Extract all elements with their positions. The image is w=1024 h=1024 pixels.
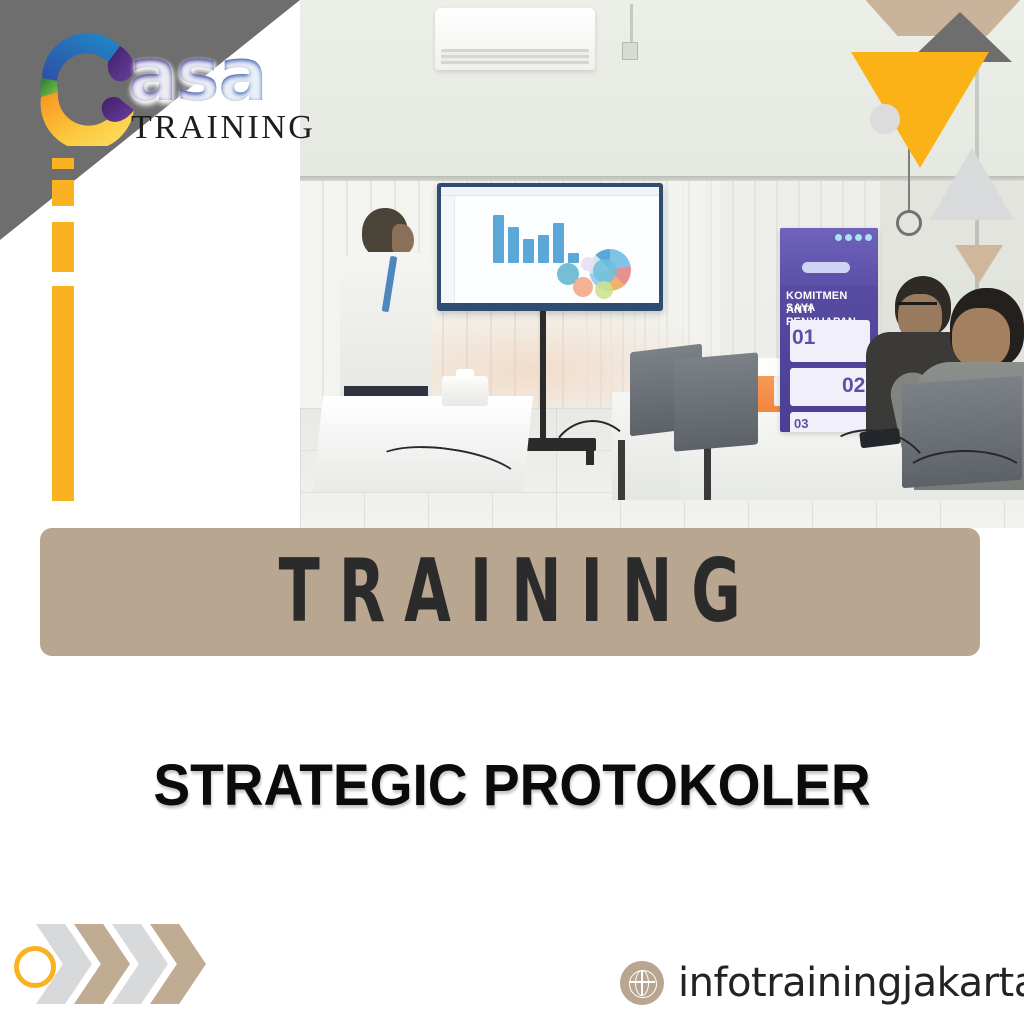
globe-ellipse xyxy=(635,970,649,996)
presentation-display xyxy=(437,183,663,311)
brand-logo: asa TRAINING xyxy=(24,18,344,158)
dashboard-sidebar xyxy=(441,196,455,307)
dashboard-toolbar xyxy=(441,187,659,196)
chevron-arrow-group xyxy=(36,924,216,1004)
globe-meridian xyxy=(629,981,655,983)
training-banner: TRAINING xyxy=(40,528,980,656)
rollup-header xyxy=(780,228,878,286)
participant-1-glasses xyxy=(897,302,937,311)
tan-triangle-down-icon xyxy=(955,245,1003,283)
rollup-number-03: 03 xyxy=(794,416,808,431)
logo-brand-name: asa xyxy=(128,42,315,108)
dash-segment-3 xyxy=(52,222,74,272)
display-bezel-bottom xyxy=(441,303,659,311)
rollup-number-01: 01 xyxy=(792,326,815,350)
gray-circle-shape xyxy=(870,104,900,134)
globe-icon xyxy=(620,961,664,1005)
display-stand-pole xyxy=(540,311,546,441)
participant-2-face xyxy=(952,308,1010,368)
light-gray-triangle-up-icon xyxy=(930,148,1014,220)
tissue-box xyxy=(442,376,488,406)
training-banner-label: TRAINING xyxy=(260,542,760,643)
rollup-number-02: 02 xyxy=(842,374,865,398)
logo-wordmark: asa TRAINING xyxy=(128,42,315,146)
hanging-ring xyxy=(896,210,922,236)
laptop xyxy=(674,352,758,451)
presenter-body xyxy=(340,252,432,400)
presenter-face xyxy=(392,224,414,254)
dash-segment-1 xyxy=(52,158,74,169)
dashboard-bubble xyxy=(573,277,593,297)
table-leg xyxy=(704,440,711,500)
dashboard-bubble xyxy=(595,281,613,299)
rollup-badge xyxy=(802,262,850,273)
training-poster: KOMITMEN SAYA ANTI PENYUAPAN 01 02 03 xyxy=(0,0,1024,1024)
rollup-dots xyxy=(835,234,872,241)
dashboard-bubble xyxy=(593,259,617,283)
wall-switch-box xyxy=(622,42,638,60)
rollup-banner: KOMITMEN SAYA ANTI PENYUAPAN 01 02 03 xyxy=(780,228,878,432)
dash-segment-4 xyxy=(52,286,74,501)
dash-segment-2 xyxy=(52,180,74,206)
yellow-circle-outline-icon xyxy=(14,946,56,988)
cable xyxy=(900,450,1024,510)
air-conditioner xyxy=(435,8,595,70)
page-title: STRATEGIC PROTOKOLER xyxy=(26,752,999,819)
dashboard-bar-chart xyxy=(493,213,579,263)
display-screen xyxy=(441,187,659,307)
website-url[interactable]: infotrainingjakarta.com xyxy=(678,960,1024,1006)
footer-website[interactable]: infotrainingjakarta.com xyxy=(620,960,1024,1006)
